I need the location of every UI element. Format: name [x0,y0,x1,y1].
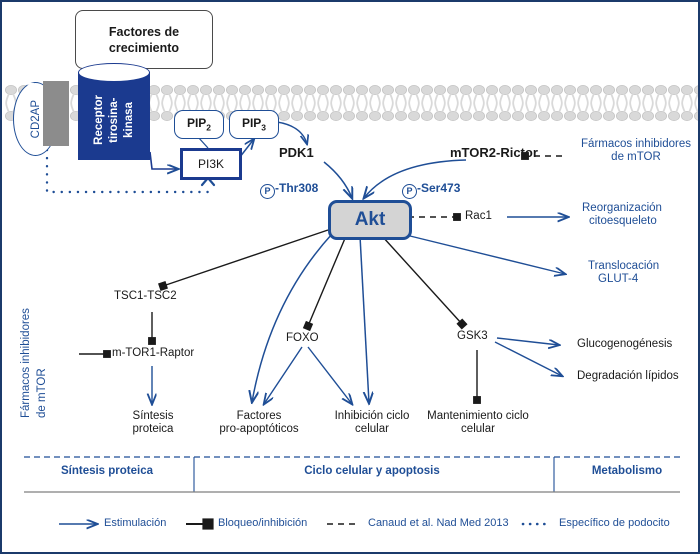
legend-label-canaud: Canaud et al. Nad Med 2013 [368,517,509,529]
phospho-circle-icon: P [402,184,417,199]
legend-label-podocito: Específico de podocito [559,517,670,529]
edge-receptor-to-pi3k [150,152,178,169]
phospho-circle-icon: P [260,184,275,199]
degradacion-lipidos-outcome: Degradación lípidos [577,370,679,383]
factores-proapoptoticos-outcome: Factores pro-apoptóticos [211,410,307,436]
receptor-label: Receptor tirosina- kinasa [92,95,137,145]
rac1-node: Rac1 [465,210,492,223]
tsc1-tsc2-node: TSC1-TSC2 [114,290,177,303]
pip2-node: PIP2 [174,110,224,139]
figure-frame: Factores de crecimiento CD2AP Nefrina Re… [0,0,700,554]
pip3-label: PIP3 [242,116,266,132]
edge-akt-to-foxo [308,236,346,326]
legend-label-estimulacion: Estimulación [104,517,166,529]
edge-pip3-to-pdk1 [277,122,307,144]
glucogenogenesis-outcome: Glucogenogénesis [577,338,672,351]
edge-akt-to-glut4 [406,235,565,274]
mtor-inhibitors-right-label: Fármacos inhibidores de mTOR [580,138,692,164]
receptor-label-wrap: Receptor tirosina- kinasa [78,78,150,162]
growth-factors-line1: Factores de [109,24,179,40]
edge-gsk3-to-glucogeno [497,338,559,345]
gsk3-node: GSK3 [457,330,488,343]
inhibicion-ciclo-celular-outcome: Inhibición ciclo celular [322,410,422,436]
growth-factors-line2: crecimiento [109,40,179,56]
pi3k-node: PI3K [180,148,242,180]
edge-akt-to-inhibciclo [360,236,369,403]
pip2-label: PIP2 [187,116,211,132]
edge-akt-to-tsc [163,230,328,286]
category-ciclo-celular: Ciclo celular y apoptosis [252,465,492,477]
edge-gsk3-to-lipidos [495,342,562,376]
category-sintesis-proteica: Síntesis proteica [32,465,182,477]
nefrina-label: Nefrina [23,36,49,101]
nefrina-node: Nefrina [43,81,69,146]
phospho-thr308: P-Thr308 [260,182,318,199]
akt-node: Akt [328,200,412,240]
foxo-node: FOXO [286,332,319,345]
edge-foxo-to-proapop [264,347,302,404]
mtor1-raptor-node: m-TOR1-Raptor [112,347,194,360]
akt-label: Akt [355,209,386,231]
edge-foxo-to-inhibciclo [308,347,352,404]
edge-akt-to-gsk3 [382,236,462,324]
mantenimiento-ciclo-celular-outcome: Mantenimiento ciclo celular [416,410,540,436]
edge-akt-to-proapop [252,234,332,402]
legend-label-bloqueo: Bloqueo/inhibición [218,517,307,529]
phospho-ser473: P-Ser473 [402,182,460,199]
edge-pdk1-to-akt [324,162,352,198]
translocacion-glut4-label: Translocación GLUT-4 [588,260,698,286]
receptor-tyrosine-kinase-node: Receptor tirosina- kinasa [78,72,150,160]
cd2ap-label: CD2AP [30,100,42,138]
mtor-inhibitors-left-label: Fármacos inhibidores de mTOR [20,292,80,422]
reorganizacion-citoesqueleto-label: Reorganización citoesqueleto [582,202,697,228]
mtor2-rictor-label: mTOR2-Rictor [450,146,538,159]
category-metabolismo: Metabolismo [567,465,687,477]
pdk1-label: PDK1 [279,146,314,159]
pip3-node: PIP3 [229,110,279,139]
sintesis-proteica-outcome: Síntesis proteica [117,410,189,436]
pi3k-label: PI3K [198,157,224,171]
growth-factors-box: Factores de crecimiento [75,10,213,69]
